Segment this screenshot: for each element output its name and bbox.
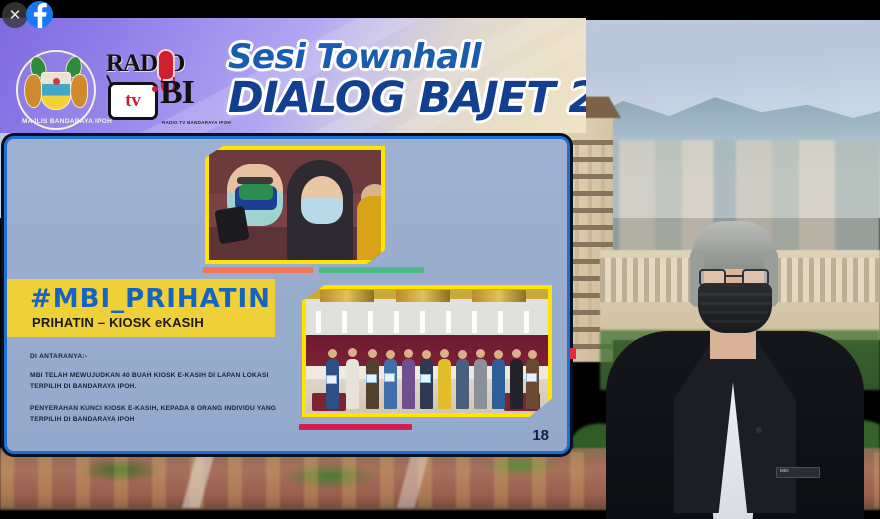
photo-head [386, 350, 395, 359]
photo-certificate [366, 374, 377, 383]
photo-head [494, 350, 503, 359]
tv-set-icon: tv [108, 82, 158, 120]
photo-glasses [237, 177, 273, 184]
photo-ceiling-panel [320, 290, 374, 302]
slide-body-text: DI ANTARANYA:- MBI TELAH MEWUJUDKAN 40 B… [30, 353, 285, 426]
photo-person [357, 196, 385, 262]
photo-person [456, 359, 469, 409]
photo-certificate [326, 375, 337, 384]
close-overlay-button[interactable]: ✕ [2, 2, 28, 28]
photo-head [512, 349, 521, 358]
presenter-name-badge-text: MBI [780, 468, 789, 473]
photo-head [528, 350, 537, 359]
event-title-banner: MAJLIS BANDARAYA IPOH RADIO BI tv RADIO … [0, 18, 586, 133]
letterbox-top [0, 0, 880, 20]
presentation-slide: #MBI_PRIHATIN PRIHATIN – KIOSK eKASIH [4, 136, 570, 454]
crest-ribbon-text: MAJLIS BANDARAYA IPOH [22, 118, 112, 125]
tv-label: tv [125, 90, 141, 112]
presenter-glasses-bridge [726, 275, 742, 277]
photo-head [404, 349, 413, 358]
photo-certificate [420, 374, 431, 383]
photo-person [346, 359, 359, 409]
tv-knob-icon [152, 86, 158, 92]
photo-head [368, 349, 377, 358]
photo-person [384, 359, 397, 409]
slide-edge-marker [570, 348, 576, 359]
photo-face-mask [301, 198, 343, 224]
radio-tagline: RADIO TV BANDARAYA IPOH [162, 120, 231, 125]
photo-head [476, 349, 485, 358]
photo-person [510, 359, 523, 409]
photo-face-mask [239, 184, 273, 200]
photo-certificate [526, 373, 537, 382]
facebook-icon[interactable] [26, 1, 53, 28]
photo-person [438, 359, 451, 409]
radio-tv-bi-logo: RADIO BI tv RADIO TV BANDARAYA IPOH [102, 46, 212, 133]
slide-page-number: 18 [532, 427, 549, 444]
photo-person [526, 359, 539, 409]
photo-people-row [326, 347, 540, 409]
photo-head [348, 348, 357, 357]
photo-person [474, 359, 487, 409]
slide-body-lead: DI ANTARANYA:- [30, 353, 285, 360]
photo-person [420, 359, 433, 409]
slide-headline: #MBI_PRIHATIN [30, 284, 271, 314]
photo-head [422, 350, 431, 359]
photo-head [440, 349, 449, 358]
divider-bar-green [319, 267, 424, 273]
photo-certificate [384, 373, 395, 382]
photo-person [326, 359, 339, 409]
mbi-crest-logo: MAJLIS BANDARAYA IPOH [14, 44, 98, 133]
photo-group-handover [302, 285, 552, 417]
slide-subheadline: PRIHATIN – KIOSK eKASIH [32, 315, 204, 330]
slide-headline-band: #MBI_PRIHATIN PRIHATIN – KIOSK eKASIH [7, 279, 275, 337]
slide-body-paragraph-2: PENYERAHAN KUNCI KIOSK E-KASIH, KEPADA 8… [30, 404, 285, 426]
photo-head [328, 349, 337, 358]
photo-ceiling-panel [396, 290, 450, 302]
event-title: DIALOG BAJET 2022 [228, 77, 586, 120]
photo-head [458, 350, 467, 359]
photo-press-conference [205, 146, 385, 264]
video-stage: MAJLIS BANDARAYA IPOH RADIO BI tv RADIO … [0, 0, 880, 519]
photo-person [366, 359, 379, 409]
presenter-lapel-mic [756, 427, 762, 433]
crest-ribbon: MAJLIS BANDARAYA IPOH [14, 44, 98, 133]
photo-ceiling-panel [472, 290, 526, 302]
photo-ceiling-lights [306, 311, 548, 333]
divider-bar-orange [203, 267, 313, 273]
presenter-video-feed: MBI [600, 195, 870, 519]
slide-body-paragraph-1: MBI TELAH MEWUJUDKAN 40 BUAH KIOSK E-KAS… [30, 371, 285, 393]
photo-person [492, 359, 505, 409]
photo-person [402, 359, 415, 409]
divider-bar-red [299, 424, 412, 430]
photo-microphone [214, 206, 249, 245]
event-title-group: Sesi Townhall DIALOG BAJET 2022 [228, 40, 586, 120]
bi-wordmark: BI [160, 74, 194, 112]
event-subtitle: Sesi Townhall [228, 40, 586, 74]
